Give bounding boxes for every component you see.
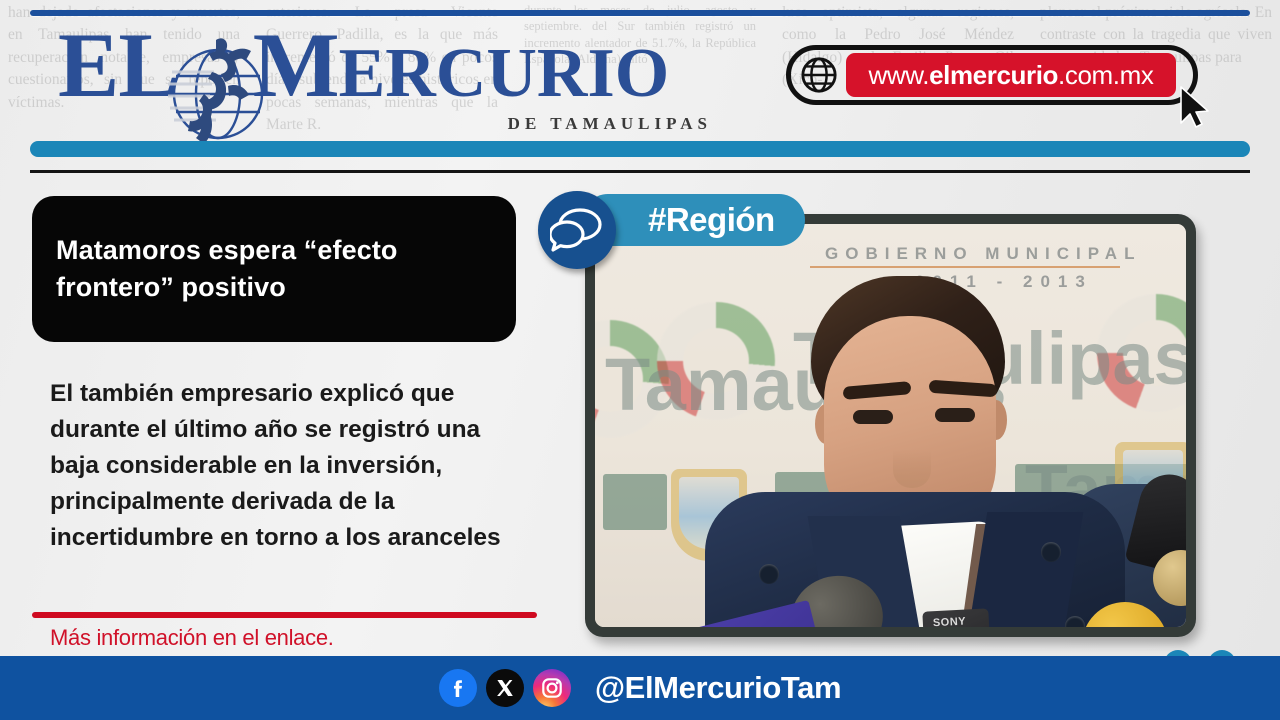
- region-icon-circle: [538, 191, 616, 269]
- jacket-button: [759, 564, 779, 584]
- social-footer-bar: @ElMercurioTam: [0, 656, 1280, 720]
- teal-accent-bar: [30, 141, 1250, 157]
- top-divider-rule: [30, 10, 1250, 16]
- masthead-logo: EL M ERCURIO DE TAMAULIPAS: [58, 22, 718, 137]
- article-body-text: El también empresario explicó que durant…: [50, 376, 520, 556]
- social-icons-group: [439, 669, 571, 707]
- red-divider-rule: [32, 612, 537, 618]
- jacket-button: [1041, 542, 1061, 562]
- person-figure: [595, 224, 1186, 627]
- region-pill: #Región: [582, 194, 805, 246]
- person-eye: [935, 408, 975, 422]
- instagram-icon[interactable]: [533, 669, 571, 707]
- region-label: #Región: [648, 201, 775, 239]
- url-pill: www.elmercurio.com.mx: [846, 53, 1176, 97]
- social-handle[interactable]: @ElMercurioTam: [595, 670, 841, 706]
- person-eye: [853, 410, 893, 424]
- person-nose: [893, 424, 931, 488]
- masthead-subtitle: DE TAMAULIPAS: [508, 114, 712, 134]
- more-info-link[interactable]: Más información en el enlace.: [50, 625, 334, 651]
- article-photo-frame: GOBIERNO MUNICIPAL 2011 - 2013 Tamaulipa…: [585, 214, 1196, 637]
- speech-bubbles-icon: [550, 208, 604, 252]
- recorder-brand-text: SONY: [933, 616, 967, 627]
- headline-box: Matamoros espera “efecto frontero” posit…: [32, 196, 516, 342]
- black-divider-rule: [30, 170, 1250, 173]
- globe-icon: [800, 56, 838, 94]
- audio-recorder: SONY: [922, 608, 993, 627]
- cursor-arrow-icon: [1178, 85, 1212, 129]
- x-twitter-icon[interactable]: [486, 669, 524, 707]
- social-news-card: han dejado afectaciones y muertes, en Ta…: [0, 0, 1280, 720]
- masthead-word-ercurio: ERCURIO: [339, 41, 670, 108]
- article-photo: GOBIERNO MUNICIPAL 2011 - 2013 Tamaulipa…: [595, 224, 1186, 627]
- page-title: Matamoros espera “efecto frontero” posit…: [56, 232, 492, 307]
- website-url-badge[interactable]: www.elmercurio.com.mx: [786, 45, 1198, 105]
- facebook-icon[interactable]: [439, 669, 477, 707]
- url-text: www.elmercurio.com.mx: [869, 60, 1154, 91]
